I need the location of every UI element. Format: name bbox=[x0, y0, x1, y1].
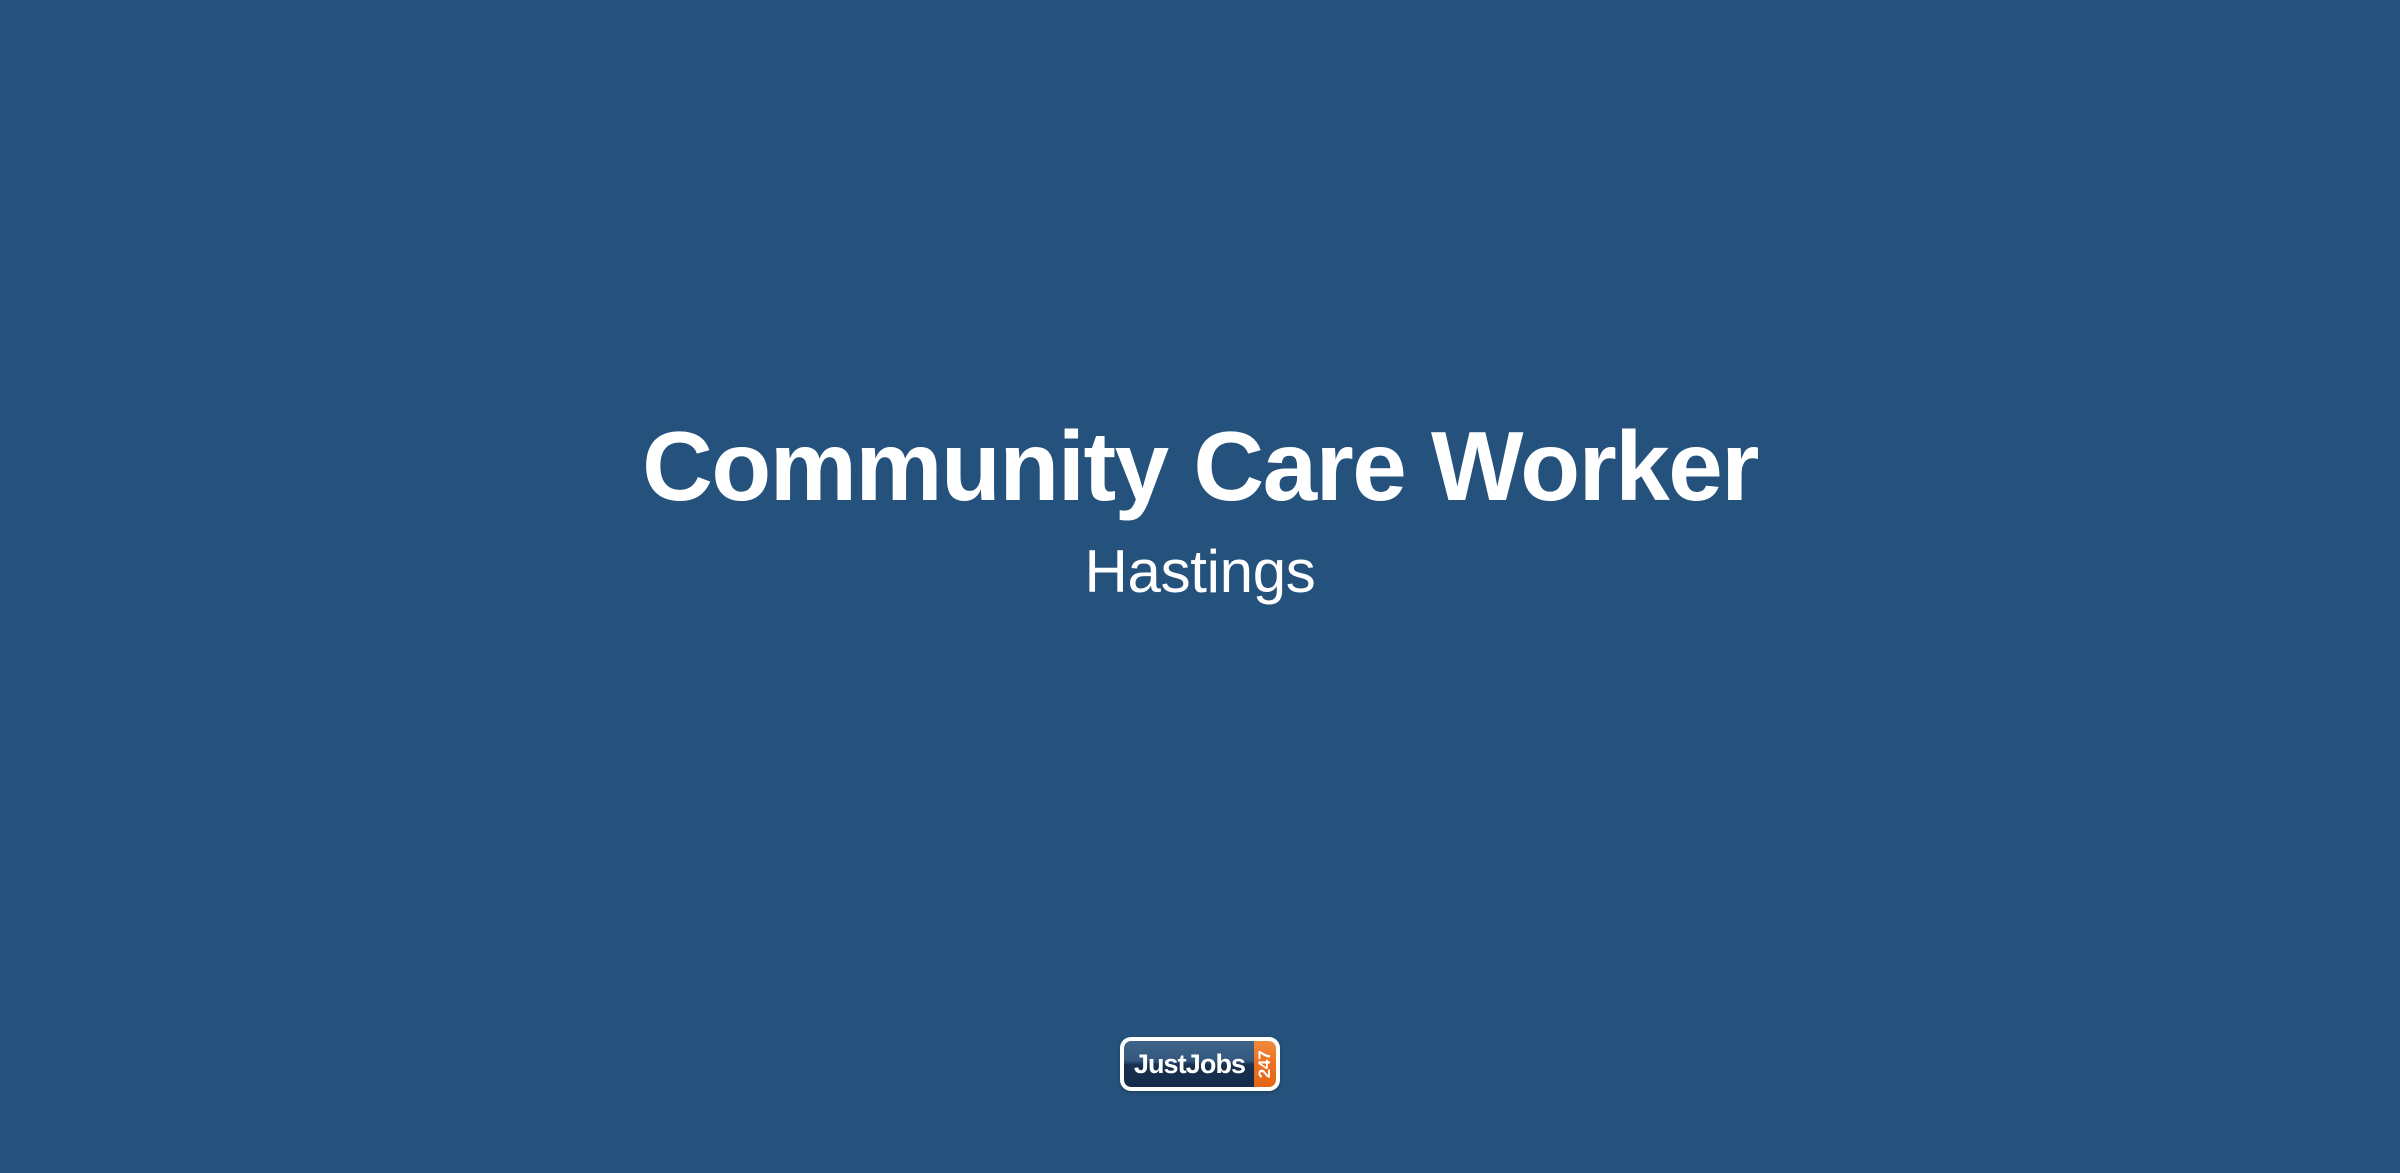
brand-badge-text: 247 bbox=[1257, 1050, 1274, 1077]
brand-logo-container: JustJobs 247 bbox=[0, 1037, 2400, 1091]
brand-wordmark-text: JustJobs bbox=[1134, 1051, 1245, 1078]
justjobs247-logo[interactable]: JustJobs 247 bbox=[1120, 1037, 1280, 1091]
headline-block: Community Care Worker Hastings bbox=[0, 0, 2400, 1020]
brand-wordmark-panel: JustJobs bbox=[1124, 1041, 1254, 1087]
brand-logo-inner: JustJobs 247 bbox=[1124, 1041, 1276, 1087]
job-location: Hastings bbox=[1084, 537, 1315, 606]
brand-badge: 247 bbox=[1254, 1041, 1276, 1087]
job-poster: Community Care Worker Hastings JustJobs … bbox=[0, 0, 2400, 1173]
page-title: Community Care Worker bbox=[642, 414, 1758, 520]
